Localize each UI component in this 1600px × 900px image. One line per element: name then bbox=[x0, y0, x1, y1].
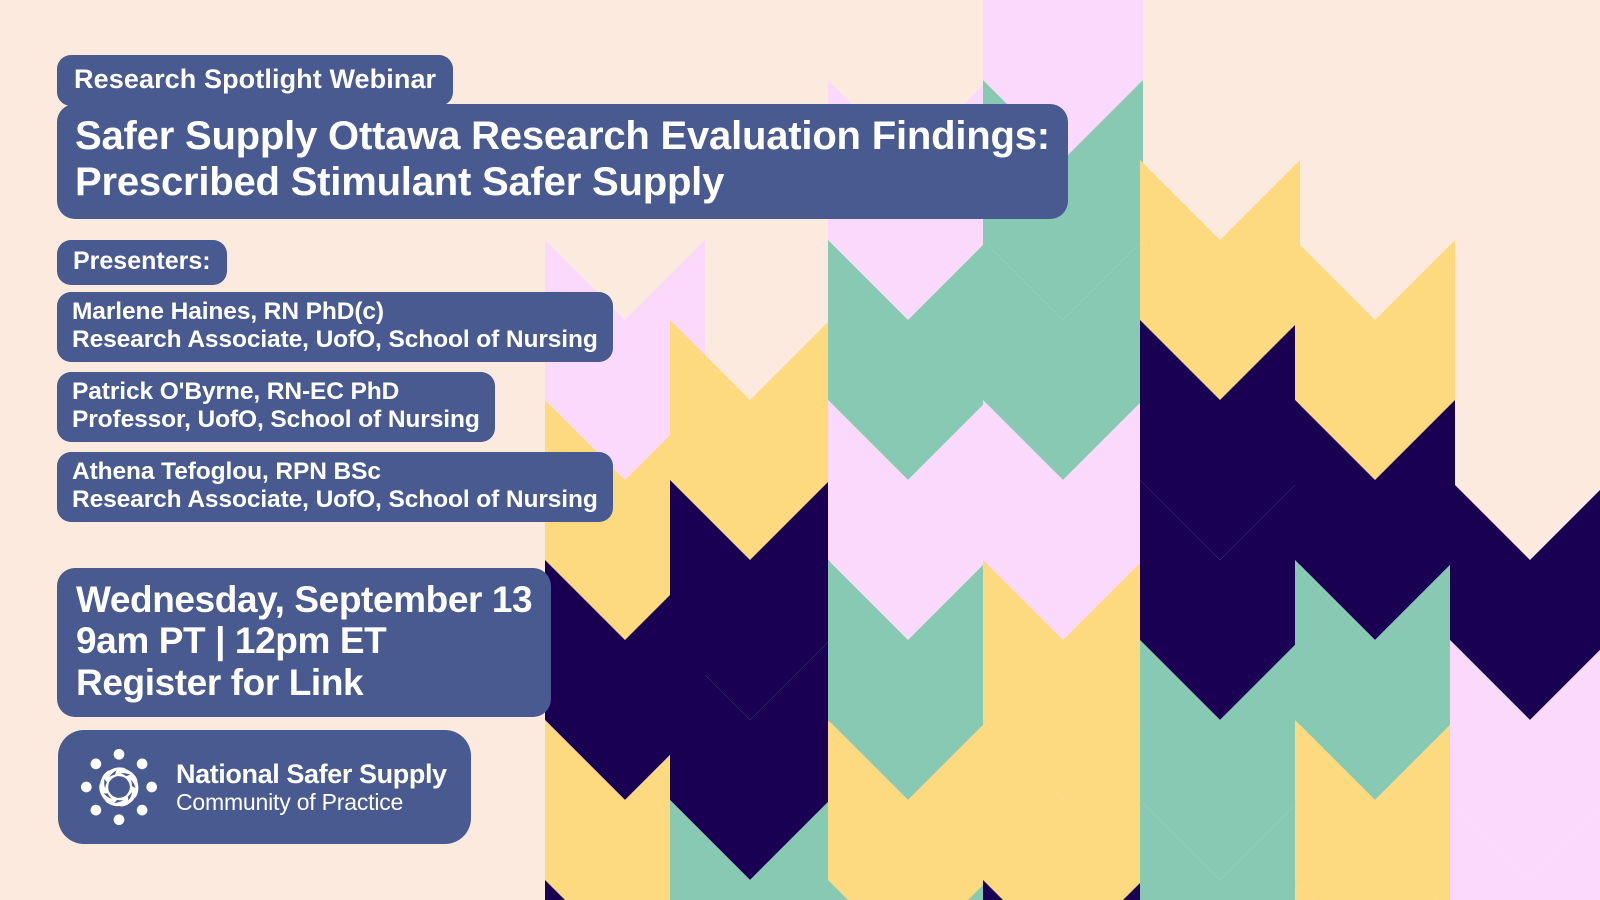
swirl-ring-logo-icon bbox=[76, 744, 162, 830]
presenter-name-2: Patrick O'Byrne, RN-EC PhD bbox=[72, 378, 399, 405]
event-datetime-block: Wednesday, September 13 9am PT | 12pm ET… bbox=[57, 568, 551, 717]
presenter-role-3: Research Associate, UofO, School of Nurs… bbox=[72, 486, 598, 514]
presenter-card-3: Athena Tefoglou, RPN BSc Research Associ… bbox=[57, 452, 613, 522]
poster-content: Research Spotlight Webinar Safer Supply … bbox=[0, 0, 1600, 900]
eyebrow-badge: Research Spotlight Webinar bbox=[57, 55, 453, 106]
logo-dot bbox=[137, 759, 148, 770]
logo-wordmark: National Safer Supply Community of Pract… bbox=[176, 761, 447, 814]
logo-line-2: Community of Practice bbox=[176, 791, 447, 814]
logo-swirl bbox=[94, 760, 146, 812]
presenter-name-3: Athena Tefoglou, RPN BSc bbox=[72, 458, 381, 485]
webinar-poster: Research Spotlight Webinar Safer Supply … bbox=[0, 0, 1600, 900]
presenter-card-1: Marlene Haines, RN PhD(c) Research Assoc… bbox=[57, 292, 613, 362]
logo-dot bbox=[91, 759, 102, 770]
register-cta[interactable]: Register for Link bbox=[76, 662, 532, 703]
event-date: Wednesday, September 13 bbox=[76, 579, 532, 620]
presenter-role-1: Research Associate, UofO, School of Nurs… bbox=[72, 326, 598, 354]
logo-line-1: National Safer Supply bbox=[176, 761, 447, 788]
presenter-card-2: Patrick O'Byrne, RN-EC PhD Professor, Uo… bbox=[57, 372, 495, 442]
page-title: Safer Supply Ottawa Research Evaluation … bbox=[57, 104, 1068, 219]
presenter-role-2: Professor, UofO, School of Nursing bbox=[72, 406, 480, 434]
logo-dot bbox=[146, 782, 157, 793]
organization-logo[interactable]: National Safer Supply Community of Pract… bbox=[58, 730, 471, 844]
logo-dot bbox=[137, 805, 148, 816]
presenter-name-1: Marlene Haines, RN PhD(c) bbox=[72, 298, 384, 325]
logo-dot bbox=[114, 814, 125, 825]
event-time: 9am PT | 12pm ET bbox=[76, 620, 532, 661]
logo-dot bbox=[81, 782, 92, 793]
presenters-label: Presenters: bbox=[57, 240, 227, 285]
title-line-2: Prescribed Stimulant Safer Supply bbox=[75, 160, 1050, 206]
title-line-1: Safer Supply Ottawa Research Evaluation … bbox=[75, 114, 1050, 158]
logo-dot bbox=[91, 805, 102, 816]
logo-dot bbox=[114, 749, 125, 760]
